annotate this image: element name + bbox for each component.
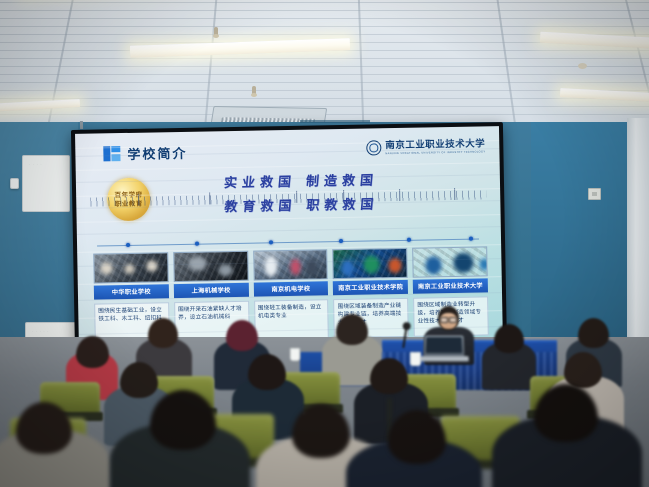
slogan-2a: 教育救国 [224, 198, 297, 214]
card-description: 围绕轻工装备制造，设立机电类专业 [254, 299, 329, 339]
audience-head [336, 314, 368, 345]
slide-title-marker-icon [103, 146, 120, 161]
timeline-dot [407, 238, 411, 242]
smoke-detector [578, 63, 587, 69]
timeline-dot [269, 240, 273, 244]
paper-cup[interactable] [410, 352, 421, 366]
card-thumbnail-image [412, 246, 487, 277]
audience-head [148, 318, 178, 348]
ceiling [0, 0, 649, 140]
timeline-dot [126, 243, 130, 247]
card-caption: 上海机械学校 [174, 283, 249, 298]
audience-head [248, 354, 286, 390]
sprinkler-head [252, 86, 256, 95]
timeline-dot [195, 242, 199, 246]
slogan-1b: 制造救国 [305, 172, 378, 188]
screen-top-rail [300, 120, 370, 123]
screen-mount-bracket [80, 121, 83, 129]
audience-head [226, 320, 258, 351]
presenter-glasses-icon [440, 317, 457, 321]
card-thumbnail-image [173, 251, 248, 282]
audience-head [494, 324, 524, 353]
panel-label: · · · · · [32, 329, 49, 333]
audience-head [120, 362, 158, 398]
wall-outlet[interactable] [588, 188, 601, 200]
presenter-laptop[interactable] [423, 335, 464, 357]
notice-label: · · · · [29, 162, 43, 166]
ceiling-light-strip [0, 99, 80, 113]
slogan-2b: 职教救国 [306, 196, 379, 212]
audience-head [370, 358, 408, 394]
timeline-dot [339, 239, 343, 243]
audience-head [76, 336, 109, 368]
audience-head [578, 318, 609, 348]
card-thumbnail-image [333, 248, 408, 279]
card-thumbnail-image [253, 249, 328, 280]
card-caption: 南京工业职业技术学院 [333, 280, 408, 295]
screenshot-root: · · · · · · · · · 学校简介 南京工业职业技术大学 NANJIN… [0, 0, 649, 487]
card-caption: 南京机电学校 [253, 281, 328, 296]
wall-mounted-notice-board: · · · · [22, 155, 70, 212]
card-caption: 中华职业学校 [94, 284, 169, 299]
timeline-dot [469, 237, 473, 241]
wall-switch-plate[interactable] [10, 178, 19, 189]
slogan-1a: 实业救国 [223, 174, 296, 190]
card-caption: 南京工业职业技术大学 [413, 278, 488, 293]
card-thumbnail-image [93, 252, 168, 283]
sprinkler-head [214, 27, 218, 36]
audience-head [564, 352, 602, 388]
paper-cup[interactable] [290, 348, 300, 361]
